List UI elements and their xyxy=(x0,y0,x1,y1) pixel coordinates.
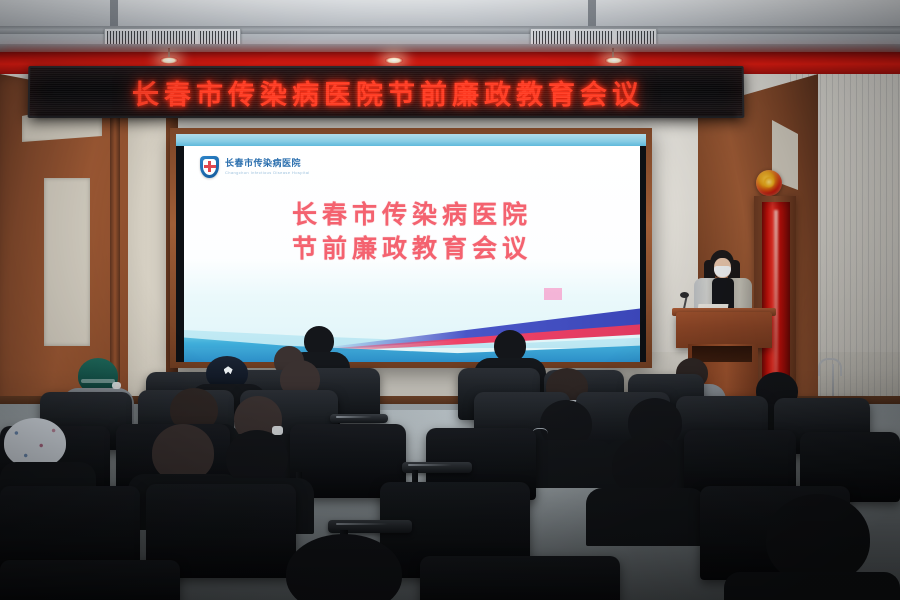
armrest-highlight xyxy=(336,523,388,525)
slide: 长春市传染病医院 Changchun Infectious Disease Ho… xyxy=(184,146,640,362)
ceiling-seam-right xyxy=(588,0,596,28)
left-wall-light-strip xyxy=(128,108,166,408)
ceiling-seam-left xyxy=(110,0,118,28)
ceiling-downlight xyxy=(385,57,403,64)
conference-hall-photo: 长春市传染病医院节前廉政教育会议 长春市传染病医院 Changchun Infe… xyxy=(0,0,900,600)
seat[interactable] xyxy=(420,556,620,600)
seat[interactable] xyxy=(0,560,180,600)
screen-top-band xyxy=(176,134,646,146)
attendee-patterned-cap xyxy=(4,418,66,468)
shield-icon xyxy=(200,156,219,178)
ceiling-downlight xyxy=(160,57,178,64)
hospital-logo: 长春市传染病医院 Changchun Infectious Disease Ho… xyxy=(200,156,310,178)
podium xyxy=(676,312,772,348)
left-wall-panel-lower xyxy=(44,178,90,346)
armrest-highlight xyxy=(336,416,372,418)
microphone-stand-hook xyxy=(818,358,842,376)
presentation-screen[interactable]: 长春市传染病医院 Changchun Infectious Disease Ho… xyxy=(176,134,646,362)
led-banner: 长春市传染病医院节前廉政教育会议 xyxy=(28,66,745,118)
face-mask xyxy=(112,382,121,389)
logo-text: 长春市传染病医院 Changchun Infectious Disease Ho… xyxy=(225,160,310,175)
downlight-stem xyxy=(612,48,614,57)
cross-icon-horizontal xyxy=(204,165,216,168)
logo-name-cn: 长春市传染病医院 xyxy=(225,160,310,169)
led-banner-shadow xyxy=(36,112,736,120)
downlight-stem xyxy=(168,48,170,57)
armrest-highlight xyxy=(408,464,452,466)
attendee-head xyxy=(766,494,870,584)
led-banner-text: 长春市传染病医院节前廉政教育会议 xyxy=(128,73,644,112)
vent-grille xyxy=(107,31,238,44)
podium-recess xyxy=(692,346,752,362)
ceiling-recess-left xyxy=(0,0,110,26)
slide-title-line1: 长春市传染病医院 xyxy=(184,198,640,232)
vent-grille xyxy=(533,31,654,44)
ceiling-recess-center xyxy=(118,0,588,26)
ceiling-recess-right xyxy=(596,0,900,26)
attendee-head xyxy=(612,436,678,496)
attendee-shoulders xyxy=(586,488,706,546)
slide-pink-accent xyxy=(544,288,562,300)
podium-microphone xyxy=(680,292,689,298)
slide-title-line2: 节前廉政教育会议 xyxy=(184,232,640,266)
ceiling-downlight xyxy=(605,57,623,64)
national-emblem-badge xyxy=(756,170,782,196)
presentation-screen-frame: 长春市传染病医院 Changchun Infectious Disease Ho… xyxy=(170,128,652,368)
logo-name-en: Changchun Infectious Disease Hospital xyxy=(225,171,310,175)
slide-title: 长春市传染病医院 节前廉政教育会议 xyxy=(184,198,640,266)
attendee-shoulders xyxy=(724,572,900,600)
